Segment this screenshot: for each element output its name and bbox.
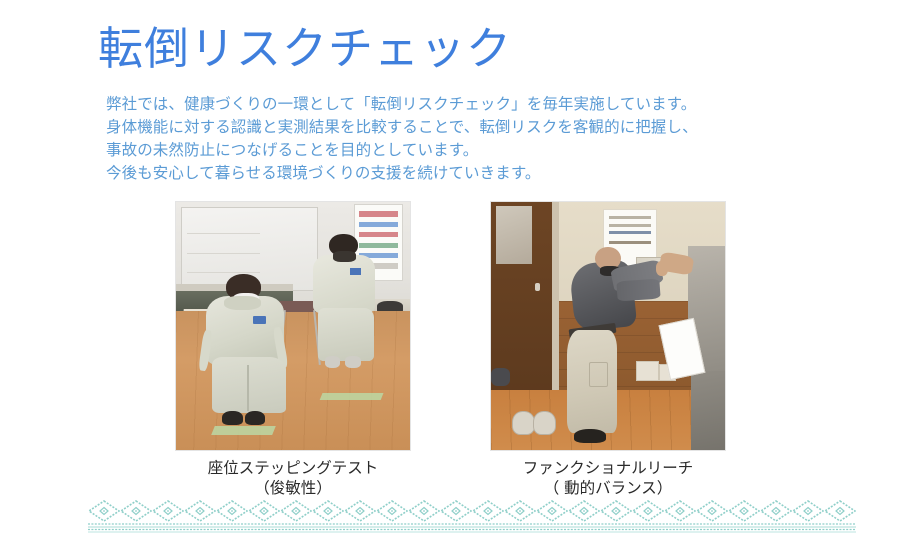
slipper bbox=[512, 411, 535, 435]
shoes-on-floor bbox=[491, 368, 510, 385]
intro-line-4: 今後も安心して暮らせる環境づくりの支援を続けていきます。 bbox=[106, 162, 826, 185]
functional-reach-photo bbox=[491, 202, 725, 450]
intro-line-2: 身体機能に対する認識と実測結果を比較することで、転倒リスクを客観的に把握し、 bbox=[106, 116, 826, 139]
participant-front bbox=[199, 274, 302, 430]
photo-scene-right bbox=[491, 202, 725, 450]
caption-left: 座位ステッピングテスト （俊敏性） bbox=[143, 458, 443, 498]
slide-root: 転倒リスクチェック 弊社では、健康づくりの一環として「転倒リスクチェック」を毎年… bbox=[0, 0, 900, 540]
page-title: 転倒リスクチェック bbox=[98, 22, 512, 76]
seated-stepping-test-photo bbox=[176, 202, 410, 450]
participant-back bbox=[307, 234, 387, 373]
reaching-participant bbox=[557, 247, 665, 445]
observer-staff bbox=[683, 242, 725, 450]
intro-line-3: 事故の未然防止につなげることを目的としています。 bbox=[106, 139, 826, 162]
caption-right-sub: （ 動的バランス） bbox=[458, 478, 758, 498]
border-pattern-icon bbox=[88, 500, 856, 534]
caption-right: ファンクショナルリーチ （ 動的バランス） bbox=[458, 458, 758, 498]
intro-line-1: 弊社では、健康づくりの一環として「転倒リスクチェック」を毎年実施しています。 bbox=[106, 93, 826, 116]
caption-right-main: ファンクショナルリーチ bbox=[523, 459, 694, 477]
caption-left-sub: （俊敏性） bbox=[143, 478, 443, 498]
caption-left-main: 座位ステッピングテスト bbox=[208, 459, 379, 477]
intro-paragraph: 弊社では、健康づくりの一環として「転倒リスクチェック」を毎年実施しています。 身… bbox=[106, 93, 826, 185]
photo-row bbox=[0, 202, 900, 452]
diamond-lattice-border bbox=[88, 500, 856, 534]
entrance-door bbox=[491, 202, 552, 395]
floor-tape-marker bbox=[320, 393, 384, 400]
slipper bbox=[533, 411, 556, 435]
photo-scene-left bbox=[176, 202, 410, 450]
